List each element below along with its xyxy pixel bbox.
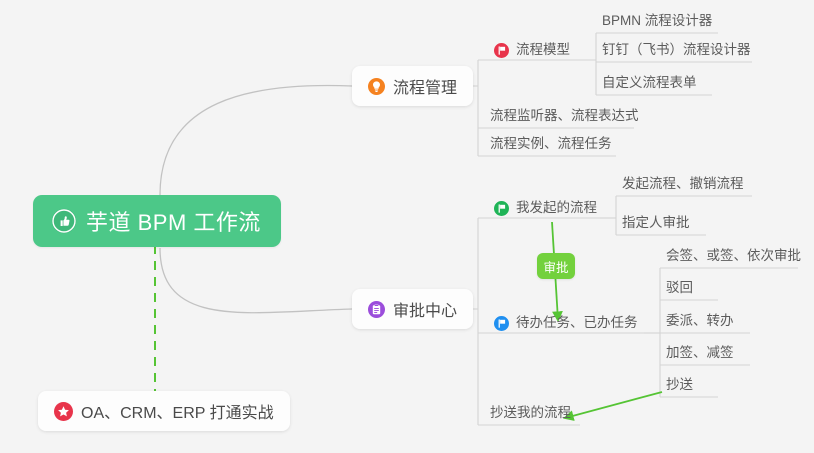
clipboard-icon [368, 301, 385, 318]
leaf-bpmn-designer[interactable]: BPMN 流程设计器 [602, 13, 712, 33]
leaf-start-cancel-process[interactable]: 发起流程、撤销流程 [622, 176, 744, 196]
leaf-cc-my-process[interactable]: 抄送我的流程 [490, 405, 571, 425]
leaf-process-listener-expression[interactable]: 流程监听器、流程表达式 [490, 108, 639, 128]
lightbulb-icon [368, 78, 385, 95]
flag-icon [494, 43, 509, 58]
leaf-process-instance-task[interactable]: 流程实例、流程任务 [490, 136, 612, 156]
subhead-label-todo-done-tasks: 待办任务、已办任务 [516, 315, 638, 331]
flag-icon [494, 201, 509, 216]
bottom-card-label: OA、CRM、ERP 打通实战 [81, 399, 274, 423]
leaf-custom-process-form[interactable]: 自定义流程表单 [602, 75, 697, 95]
subhead-label-process-model: 流程模型 [516, 42, 570, 58]
flag-icon [494, 316, 509, 331]
bottom-card-integration[interactable]: OA、CRM、ERP 打通实战 [38, 391, 290, 431]
star-icon [54, 402, 73, 421]
branch-card-process-management[interactable]: 流程管理 [352, 66, 473, 106]
subhead-todo-done-tasks[interactable]: 待办任务、已办任务 [494, 315, 638, 335]
approval-pill-badge: 审批 [537, 253, 575, 279]
leaf-add-remove-sign[interactable]: 加签、减签 [666, 345, 734, 365]
leaf-dingtalk-feishu-designer[interactable]: 钉钉（飞书）流程设计器 [602, 42, 751, 62]
thumbs-up-icon [51, 208, 77, 234]
branch-label-approval-center: 审批中心 [393, 297, 457, 321]
leaf-reject[interactable]: 驳回 [666, 280, 693, 300]
leaf-designated-approver[interactable]: 指定人审批 [622, 215, 690, 235]
root-node[interactable]: 芋道 BPM 工作流 [33, 195, 281, 247]
subhead-label-my-initiated: 我发起的流程 [516, 200, 597, 216]
subhead-my-initiated[interactable]: 我发起的流程 [494, 200, 597, 220]
branch-card-approval-center[interactable]: 审批中心 [352, 289, 473, 329]
leaf-cc[interactable]: 抄送 [666, 377, 693, 397]
leaf-countersign-orsign-sequential[interactable]: 会签、或签、依次审批 [666, 248, 801, 268]
subhead-process-model[interactable]: 流程模型 [494, 42, 570, 62]
mindmap-canvas: 芋道 BPM 工作流 流程管理 审批中心 [0, 0, 814, 453]
branch-label-process-management: 流程管理 [393, 74, 457, 98]
root-label: 芋道 BPM 工作流 [86, 205, 261, 237]
leaf-delegate-transfer[interactable]: 委派、转办 [666, 313, 734, 333]
